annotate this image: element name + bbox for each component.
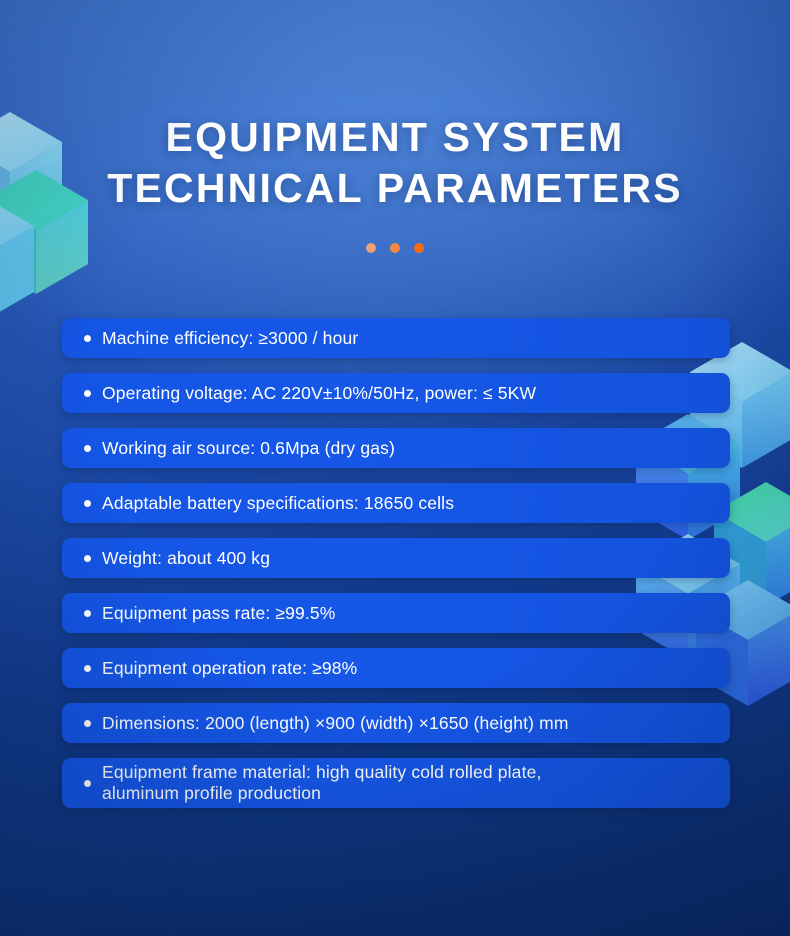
parameter-text: Weight: about 400 kg: [102, 548, 270, 569]
bullet-icon: [84, 500, 91, 507]
parameter-item: Working air source: 0.6Mpa (dry gas): [62, 428, 730, 468]
parameter-text: Machine efficiency: ≥3000 / hour: [102, 328, 358, 349]
bullet-icon: [84, 665, 91, 672]
bullet-icon: [84, 555, 91, 562]
bullet-icon: [84, 780, 91, 787]
parameter-item: Equipment pass rate: ≥99.5%: [62, 593, 730, 633]
parameter-text: Equipment pass rate: ≥99.5%: [102, 603, 336, 624]
title-line-2: TECHNICAL PARAMETERS: [0, 163, 790, 214]
parameter-text: Working air source: 0.6Mpa (dry gas): [102, 438, 395, 459]
parameter-text: Dimensions: 2000 (length) ×900 (width) ×…: [102, 713, 569, 734]
parameter-item: Dimensions: 2000 (length) ×900 (width) ×…: [62, 703, 730, 743]
parameter-item: Equipment operation rate: ≥98%: [62, 648, 730, 688]
poster-canvas: EQUIPMENT SYSTEM TECHNICAL PARAMETERS Ma…: [0, 0, 790, 936]
parameter-item: Operating voltage: AC 220V±10%/50Hz, pow…: [62, 373, 730, 413]
parameter-text: Equipment frame material: high quality c…: [102, 762, 541, 804]
title-line-1: EQUIPMENT SYSTEM: [0, 112, 790, 163]
parameter-text: Equipment operation rate: ≥98%: [102, 658, 357, 679]
divider-dot-2: [390, 243, 400, 253]
bullet-icon: [84, 445, 91, 452]
parameter-text: Adaptable battery specifications: 18650 …: [102, 493, 454, 514]
bullet-icon: [84, 610, 91, 617]
divider-dots: [0, 243, 790, 253]
divider-dot-1: [366, 243, 376, 253]
parameter-item: Equipment frame material: high quality c…: [62, 758, 730, 808]
parameter-item: Weight: about 400 kg: [62, 538, 730, 578]
bullet-icon: [84, 335, 91, 342]
parameter-item: Machine efficiency: ≥3000 / hour: [62, 318, 730, 358]
bullet-icon: [84, 390, 91, 397]
page-title: EQUIPMENT SYSTEM TECHNICAL PARAMETERS: [0, 112, 790, 214]
parameter-text: Operating voltage: AC 220V±10%/50Hz, pow…: [102, 383, 536, 404]
parameter-item: Adaptable battery specifications: 18650 …: [62, 483, 730, 523]
bullet-icon: [84, 720, 91, 727]
parameter-list: Machine efficiency: ≥3000 / hour Operati…: [62, 318, 730, 823]
divider-dot-3: [414, 243, 424, 253]
